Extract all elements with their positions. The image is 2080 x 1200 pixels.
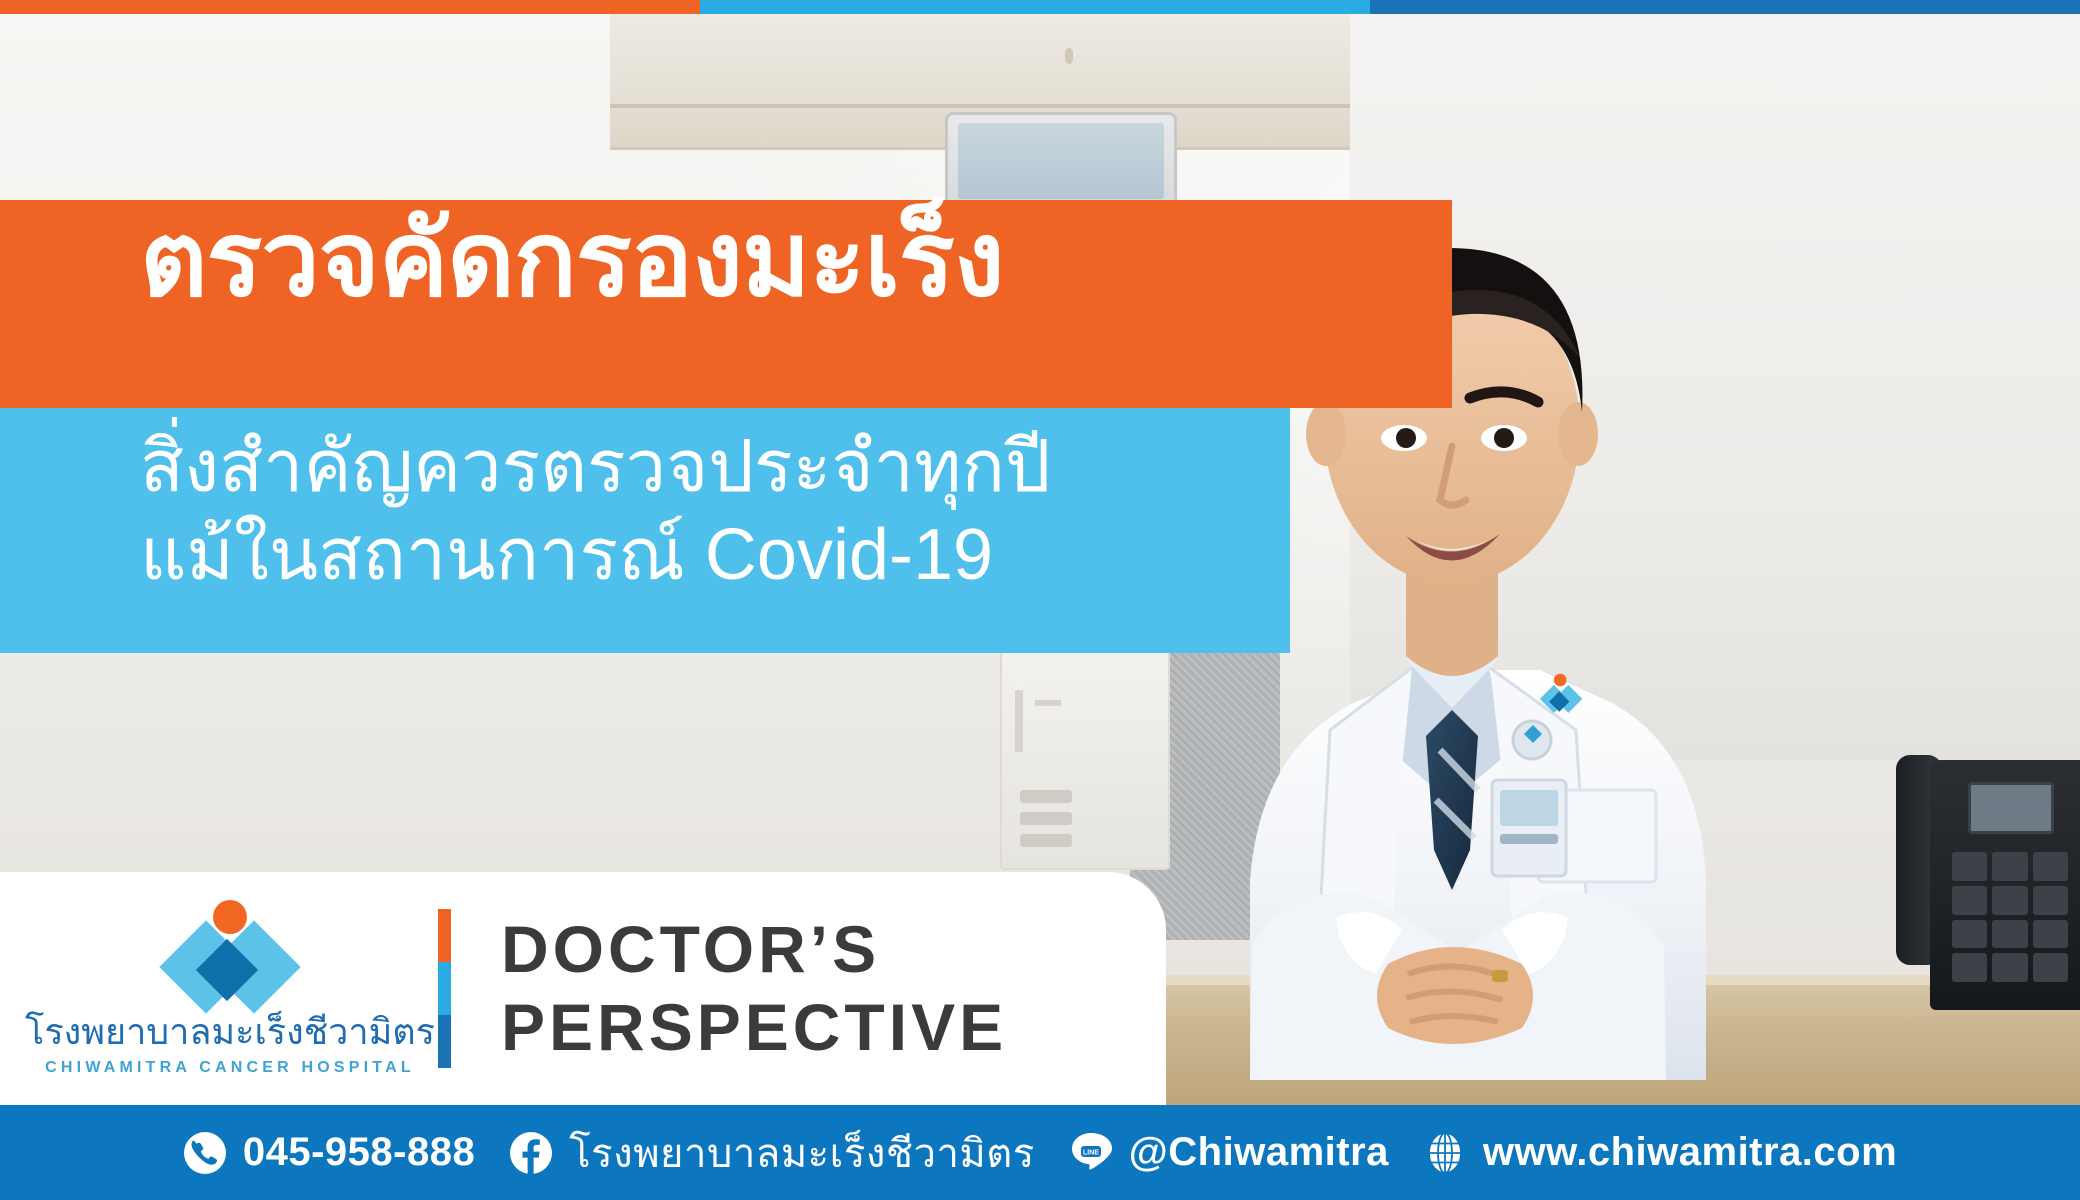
hospital-logo: โรงพยาบาลมะเร็งชีวามิตร CHIWAMITRA CANCE… (40, 900, 420, 1077)
equipment-drawers (1020, 790, 1076, 860)
series-title-line-2: PERSPECTIVE (501, 989, 1007, 1066)
brand-card: โรงพยาบาลมะเร็งชีวามิตร CHIWAMITRA CANCE… (0, 872, 1166, 1105)
subheadline-text: สิ่งสำคัญควรตรวจประจำทุกปี แม้ในสถานการณ… (140, 424, 1280, 600)
contact-footer-bar: 045-958-888 โรงพยาบาลมะเร็งชีวามิตร LINE… (0, 1105, 2080, 1200)
top-bar-segment-orange (0, 0, 700, 14)
series-title: DOCTOR’S PERSPECTIVE (501, 911, 1007, 1065)
top-bar-segment-dark-blue (1370, 0, 2080, 14)
monitor-screen (958, 123, 1164, 199)
headline-text: ตรวจคัดกรองมะเร็ง (140, 208, 1420, 312)
facebook-icon (509, 1131, 553, 1175)
top-accent-bar (0, 0, 2080, 14)
footer-line[interactable]: LINE @Chiwamitra (1069, 1130, 1389, 1175)
divider-segment-orange (438, 909, 451, 962)
desk-phone-keypad (1952, 852, 2068, 982)
globe-icon (1423, 1131, 1467, 1175)
footer-website[interactable]: www.chiwamitra.com (1423, 1130, 1897, 1175)
desk-phone-screen (1968, 782, 2054, 834)
logo-english-name: CHIWAMITRA CANCER HOSPITAL (45, 1059, 415, 1077)
equipment-slot (1015, 690, 1023, 752)
series-title-line-1: DOCTOR’S (501, 911, 1007, 988)
footer-facebook[interactable]: โรงพยาบาลมะเร็งชีวามิตร (509, 1121, 1035, 1185)
subheadline-line-2: แม้ในสถานการณ์ Covid-19 (140, 512, 1280, 600)
phone-icon (183, 1131, 227, 1175)
tricolor-divider (438, 909, 451, 1069)
cabinet-handle (1065, 48, 1073, 64)
divider-segment-dark-blue (438, 1015, 451, 1068)
divider-segment-light-blue (438, 962, 451, 1015)
logo-mark-icon (165, 900, 295, 1004)
top-bar-segment-light-blue (700, 0, 1370, 14)
footer-website-url: www.chiwamitra.com (1483, 1130, 1897, 1175)
banner-canvas: ตรวจคัดกรองมะเร็ง สิ่งสำคัญควรตรวจประจำท… (0, 0, 2080, 1200)
logo-thai-name: โรงพยาบาลมะเร็งชีวามิตร (25, 1014, 435, 1050)
footer-phone-number: 045-958-888 (243, 1130, 475, 1175)
footer-facebook-name: โรงพยาบาลมะเร็งชีวามิตร (569, 1121, 1035, 1185)
svg-text:LINE: LINE (1083, 1149, 1099, 1156)
equipment-slot-small (1035, 700, 1061, 706)
footer-phone[interactable]: 045-958-888 (183, 1130, 475, 1175)
line-icon: LINE (1069, 1131, 1113, 1175)
footer-line-id: @Chiwamitra (1129, 1130, 1389, 1175)
logo-dot-shape (213, 900, 247, 934)
subheadline-line-1: สิ่งสำคัญควรตรวจประจำทุกปี (140, 424, 1280, 512)
